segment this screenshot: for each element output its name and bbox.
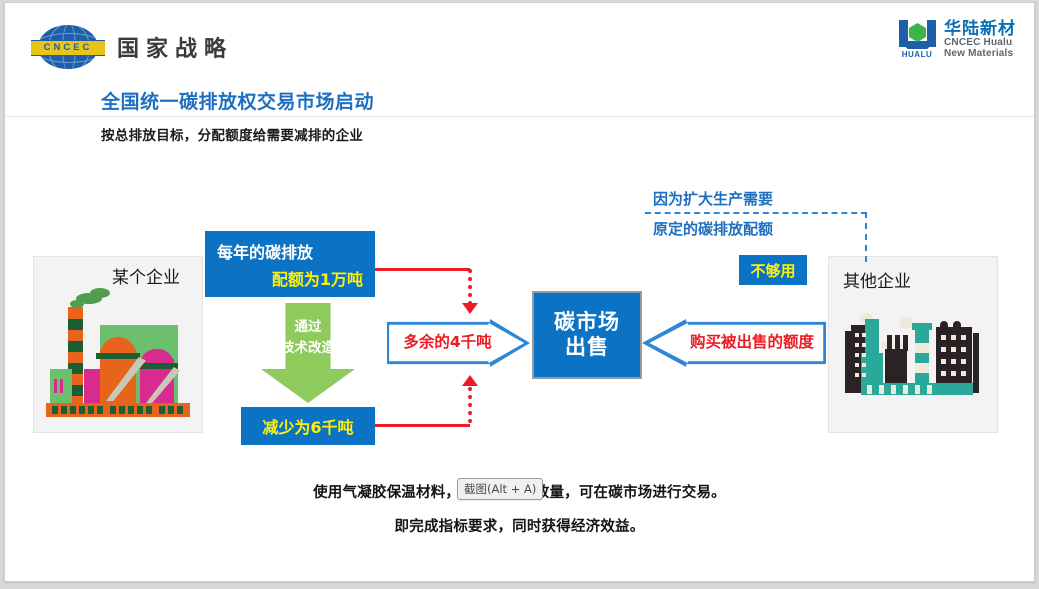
right-company-label: 其他企业 [843, 267, 911, 292]
brand-national-strategy: 国家战略 [117, 31, 233, 63]
reduced-box-label: 减少为6千吨 [262, 414, 353, 438]
screenshot-tooltip[interactable]: 截图(Alt + A) [457, 478, 543, 500]
emission-box-line2: 配额为1万吨 [213, 266, 367, 290]
hualu-mark-icon: HUALU [897, 19, 937, 61]
red-dotted-line-down [468, 269, 472, 305]
reduced-emission-box: 减少为6千吨 [241, 407, 375, 445]
screenshot-tooltip-label: 截图(Alt + A) [464, 481, 536, 497]
red-arrowhead-up-icon [462, 375, 478, 386]
purchase-arrow: 购买被出售的额度 [642, 319, 826, 367]
hualu-mark-word: HUALU [897, 50, 937, 59]
factory-illustration-colored-icon [42, 281, 194, 421]
hualu-name-cn: 华陆新材 [944, 21, 1016, 39]
cncec-logo-icon: CNCEC [29, 23, 107, 71]
market-box-line1: 碳市场 [554, 310, 620, 335]
red-connector-top [375, 268, 470, 271]
surplus-arrow-label: 多余的4千吨 [395, 330, 500, 352]
hualu-text-block: 华陆新材 CNCEC Hualu New Materials [944, 21, 1016, 59]
right-company-image: 其他企业 [828, 256, 998, 433]
purchase-arrow-label: 购买被出售的额度 [684, 330, 820, 352]
slide: CNCEC 国家战略 HUALU 华陆新材 CNCEC Hualu New Ma… [4, 2, 1035, 582]
green-arrow-line1: 通过 [295, 317, 322, 338]
screenshot-viewport: CNCEC 国家战略 HUALU 华陆新材 CNCEC Hualu New Ma… [0, 0, 1039, 589]
insufficient-badge-label: 不够用 [750, 260, 795, 281]
left-company-image: 某个企业 [33, 256, 203, 433]
page-title: 全国统一碳排放权交易市场启动 [101, 87, 374, 114]
dashed-connector-horizontal [645, 212, 867, 214]
dashed-connector-vertical [865, 212, 867, 262]
hualu-logo: HUALU 华陆新材 CNCEC Hualu New Materials [897, 17, 1016, 63]
cncec-wordmark: CNCEC [31, 40, 105, 56]
market-box-line2: 出售 [565, 335, 609, 360]
green-arrow-line2: 技术改造 [281, 338, 335, 359]
footer-line1-part3: 排放量，可在碳市场进行交易。 [520, 485, 726, 501]
cncec-text: CNCEC [31, 41, 105, 55]
surplus-arrow: 多余的4千吨 [387, 319, 530, 367]
red-dotted-line-up [468, 387, 472, 423]
factory-illustration-teal-icon [841, 297, 987, 415]
footer-line-2: 即完成指标要求，同时获得经济效益。 [5, 515, 1034, 536]
red-connector-bottom [375, 424, 470, 427]
red-arrowhead-down-icon [462, 303, 478, 314]
note-expansion-need: 因为扩大生产需要 [653, 188, 773, 209]
note-original-quota: 原定的碳排放配额 [653, 218, 773, 239]
footer-line1-part1: 使用气凝胶保温材料，为 [313, 485, 475, 501]
insufficient-badge: 不够用 [739, 255, 807, 285]
hualu-name-en2: New Materials [944, 49, 1016, 59]
technology-upgrade-arrow: 通过 技术改造 [261, 303, 355, 403]
emission-box-line1: 每年的碳排放 [213, 239, 367, 263]
annual-emission-quota-box: 每年的碳排放 配额为1万吨 [205, 231, 375, 297]
carbon-market-box: 碳市场 出售 [532, 291, 642, 379]
title-divider [5, 116, 1034, 117]
page-subtitle: 按总排放目标，分配额度给需要减排的企业 [101, 124, 363, 144]
